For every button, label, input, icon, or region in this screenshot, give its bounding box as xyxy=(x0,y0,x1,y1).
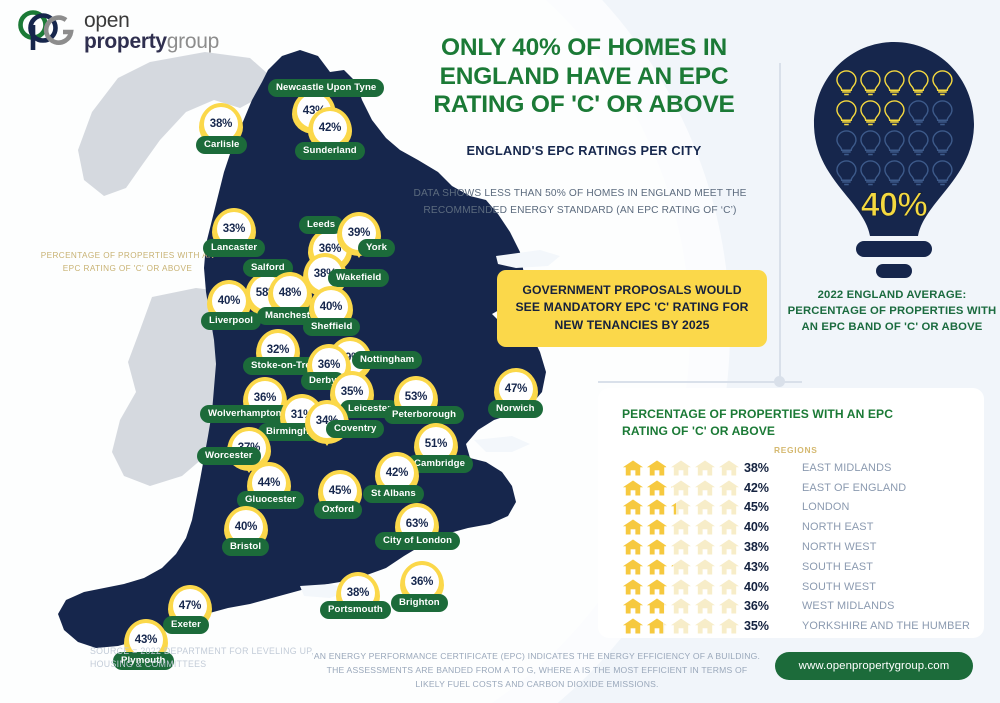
region-icon-bar xyxy=(622,519,744,535)
region-name: EAST OF ENGLAND xyxy=(802,482,906,494)
bulb-icon-empty xyxy=(909,101,928,125)
region-row: 35%YORKSHIRE AND THE HUMBER xyxy=(622,616,974,636)
house-icon xyxy=(622,559,644,575)
house-icon xyxy=(718,618,740,634)
bulb-icon-filled xyxy=(837,101,856,125)
bulb-icon-empty xyxy=(909,131,928,155)
house-icon xyxy=(718,499,740,515)
city-label-exeter[interactable]: Exeter xyxy=(163,616,209,634)
house-icon xyxy=(694,618,716,634)
house-icon xyxy=(646,499,668,515)
city-label-carlisle[interactable]: Carlisle xyxy=(196,136,247,154)
house-icon xyxy=(622,519,644,535)
city-label-city-of-london[interactable]: City of London xyxy=(375,532,460,550)
government-proposal-callout: GOVERNMENT PROPOSALS WOULD SEE MANDATORY… xyxy=(497,270,767,347)
house-icon xyxy=(718,539,740,555)
epc-explainer-note: AN ENERGY PERFORMANCE CERTIFICATE (EPC) … xyxy=(312,650,762,692)
page-subtitle: ENGLAND'S EPC RATINGS PER CITY xyxy=(398,143,770,158)
house-icon xyxy=(646,598,668,614)
region-icon-bar xyxy=(622,539,744,555)
horizontal-divider xyxy=(598,381,802,383)
bulb-icon-filled xyxy=(885,71,904,95)
vertical-divider xyxy=(779,63,781,381)
pin-value: 48% xyxy=(273,276,307,310)
region-value: 40% xyxy=(744,520,802,534)
house-icon xyxy=(670,618,692,634)
house-icon xyxy=(670,499,692,515)
bulb-caption: 2022 ENGLAND AVERAGE: PERCENTAGE OF PROP… xyxy=(786,287,998,335)
bulb-icon-grid xyxy=(806,38,982,278)
region-row: 45%LONDON xyxy=(622,498,974,518)
region-value: 42% xyxy=(744,481,802,495)
city-label-liverpool[interactable]: Liverpool xyxy=(201,312,261,330)
house-icon xyxy=(622,460,644,476)
bulb-icon-filled xyxy=(885,101,904,125)
city-label-wolverhampton[interactable]: Wolverhampton xyxy=(200,405,290,423)
website-button[interactable]: www.openpropertygroup.com xyxy=(775,652,973,680)
city-label-lancaster[interactable]: Lancaster xyxy=(203,239,265,257)
region-row: 40%NORTH EAST xyxy=(622,517,974,537)
city-label-newcastle-upon-tyne[interactable]: Newcastle Upon Tyne xyxy=(268,79,384,97)
bulb-icon-filled xyxy=(861,71,880,95)
city-label-norwich[interactable]: Norwich xyxy=(488,400,543,418)
region-value: 38% xyxy=(744,461,802,475)
city-label-st-albans[interactable]: St Albans xyxy=(363,485,424,503)
bulb-icon-empty xyxy=(909,161,928,185)
region-value: 38% xyxy=(744,540,802,554)
region-value: 43% xyxy=(744,560,802,574)
house-icon xyxy=(694,539,716,555)
house-icon xyxy=(670,539,692,555)
region-value: 36% xyxy=(744,599,802,613)
region-row: 40%SOUTH WEST xyxy=(622,577,974,597)
region-row: 36%WEST MIDLANDS xyxy=(622,597,974,617)
house-icon xyxy=(670,559,692,575)
house-icon xyxy=(622,539,644,555)
house-icon xyxy=(694,499,716,515)
bulb-icon-empty xyxy=(933,131,952,155)
house-icon xyxy=(622,598,644,614)
infographic-page: open propertygroup PERCENTAGE OF PROPERT… xyxy=(0,0,1000,703)
house-icon xyxy=(718,460,740,476)
house-icon xyxy=(670,460,692,476)
bulb-icon-filled xyxy=(837,71,856,95)
region-row: 38%NORTH WEST xyxy=(622,537,974,557)
house-icon xyxy=(646,579,668,595)
regions-panel-title: PERCENTAGE OF PROPERTIES WITH AN EPC RAT… xyxy=(622,406,942,439)
house-icon xyxy=(670,579,692,595)
bulb-icon-filled xyxy=(909,71,928,95)
pin-value: 42% xyxy=(313,111,347,145)
region-name: NORTH EAST xyxy=(802,521,874,533)
house-icon xyxy=(622,499,644,515)
region-value: 35% xyxy=(744,619,802,633)
regions-column-header: REGIONS xyxy=(774,445,818,455)
bulb-icon-empty xyxy=(837,161,856,185)
house-icon xyxy=(718,559,740,575)
region-name: SOUTH EAST xyxy=(802,561,873,573)
house-icon xyxy=(718,480,740,496)
city-label-oxford[interactable]: Oxford xyxy=(314,501,362,519)
house-icon xyxy=(718,519,740,535)
lightbulb-graphic: 40% xyxy=(806,38,982,278)
region-icon-bar xyxy=(622,579,744,595)
house-icon xyxy=(622,618,644,634)
house-icon xyxy=(646,618,668,634)
city-label-portsmouth[interactable]: Portsmouth xyxy=(320,601,391,619)
city-label-sheffield[interactable]: Sheffield xyxy=(303,318,360,336)
city-label-peterborough[interactable]: Peterborough xyxy=(384,406,464,424)
house-icon xyxy=(622,480,644,496)
bulb-percentage: 40% xyxy=(806,186,982,225)
house-icon xyxy=(646,559,668,575)
divider-joint-dot xyxy=(774,376,785,387)
bulb-icon-empty xyxy=(885,161,904,185)
region-name: EAST MIDLANDS xyxy=(802,462,892,474)
region-name: LONDON xyxy=(802,501,850,513)
house-icon xyxy=(646,460,668,476)
house-icon xyxy=(646,539,668,555)
house-icon xyxy=(646,480,668,496)
house-icon xyxy=(694,519,716,535)
intro-blurb: DATA SHOWS LESS THAN 50% OF HOMES IN ENG… xyxy=(390,186,770,219)
region-row: 42%EAST OF ENGLAND xyxy=(622,478,974,498)
region-row: 38%EAST MIDLANDS xyxy=(622,458,974,478)
region-icon-bar xyxy=(622,559,744,575)
bulb-icon-empty xyxy=(861,161,880,185)
regions-panel: PERCENTAGE OF PROPERTIES WITH AN EPC RAT… xyxy=(598,388,984,638)
house-icon xyxy=(694,579,716,595)
house-icon xyxy=(670,480,692,496)
region-value: 45% xyxy=(744,500,802,514)
bulb-icon-empty xyxy=(933,101,952,125)
region-icon-bar xyxy=(622,499,744,515)
bulb-icon-empty xyxy=(885,131,904,155)
house-icon xyxy=(718,598,740,614)
region-name: WEST MIDLANDS xyxy=(802,600,895,612)
bulb-icon-empty xyxy=(861,131,880,155)
house-icon xyxy=(694,460,716,476)
house-icon xyxy=(694,559,716,575)
bulb-icon-empty xyxy=(837,131,856,155)
house-icon xyxy=(622,579,644,595)
region-icon-bar xyxy=(622,598,744,614)
house-icon xyxy=(646,519,668,535)
house-icon xyxy=(670,519,692,535)
city-label-brighton[interactable]: Brighton xyxy=(391,594,448,612)
region-icon-bar xyxy=(622,618,744,634)
region-name: SOUTH WEST xyxy=(802,581,876,593)
page-title: ONLY 40% OF HOMES IN ENGLAND HAVE AN EPC… xyxy=(398,34,770,120)
source-note: SOURCE = 2022 DEPARTMENT FOR LEVELING UP… xyxy=(90,645,320,671)
city-label-bristol[interactable]: Bristol xyxy=(222,538,269,556)
house-icon xyxy=(694,480,716,496)
region-icon-bar xyxy=(622,480,744,496)
region-value: 40% xyxy=(744,580,802,594)
bulb-icon-empty xyxy=(933,161,952,185)
regions-list: 38%EAST MIDLANDS42%EAST OF ENGLAND45%LON… xyxy=(622,458,974,636)
region-icon-bar xyxy=(622,460,744,476)
region-name: NORTH WEST xyxy=(802,541,877,553)
city-label-sunderland[interactable]: Sunderland xyxy=(295,142,365,160)
city-label-york[interactable]: York xyxy=(358,239,395,257)
house-icon xyxy=(670,598,692,614)
house-icon xyxy=(694,598,716,614)
city-label-wakefield[interactable]: Wakefield xyxy=(328,269,389,287)
house-icon xyxy=(718,579,740,595)
region-row: 43%SOUTH EAST xyxy=(622,557,974,577)
city-label-coventry[interactable]: Coventry xyxy=(326,420,384,438)
city-label-nottingham[interactable]: Nottingham xyxy=(352,351,422,369)
map-side-note: PERCENTAGE OF PROPERTIES WITH AN EPC RAT… xyxy=(40,250,215,275)
bulb-icon-filled xyxy=(933,71,952,95)
region-name: YORKSHIRE AND THE HUMBER xyxy=(802,620,970,632)
bulb-icon-filled xyxy=(861,101,880,125)
